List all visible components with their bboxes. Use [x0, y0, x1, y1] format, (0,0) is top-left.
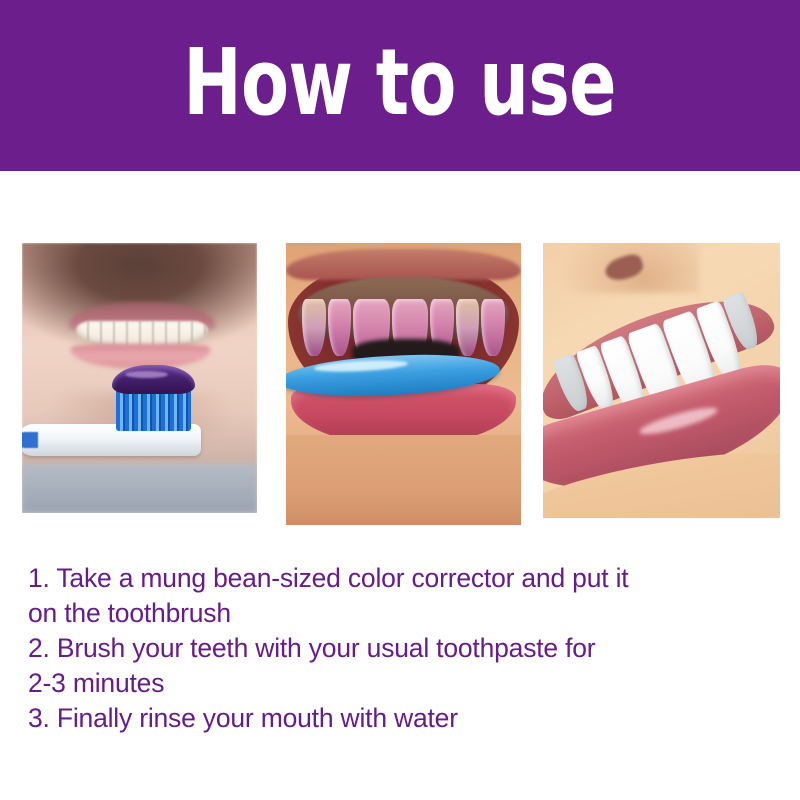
tooth — [481, 299, 504, 355]
instructions-block: 1. Take a mung bean-sized color correcto… — [28, 561, 778, 736]
chin-shape — [286, 435, 521, 525]
upper-lip-shape — [286, 249, 521, 280]
instruction-line-1-cont: on the toothbrush — [28, 596, 778, 631]
photo-2-scene — [286, 243, 521, 525]
instruction-line-3: 3. Finally rinse your mouth with water — [28, 701, 778, 736]
tooth — [328, 299, 351, 355]
shirt-shape — [22, 464, 257, 513]
photo-gallery — [0, 243, 800, 528]
toothbrush-handle-tip — [22, 432, 38, 448]
instruction-line-2: 2. Brush your teeth with your usual toot… — [28, 631, 778, 666]
photo-3-scene — [543, 243, 780, 518]
photo-white-smile-result — [543, 243, 780, 518]
photo-brushing-stained-teeth — [286, 243, 521, 525]
header-banner: How to use — [0, 0, 800, 171]
instruction-line-2-cont: 2-3 minutes — [28, 666, 778, 701]
instruction-line-1: 1. Take a mung bean-sized color correcto… — [28, 561, 778, 596]
tooth — [302, 299, 325, 355]
photo-1-scene — [22, 243, 257, 513]
photo-toothpaste-on-brush — [22, 243, 257, 513]
page-title: How to use — [184, 42, 617, 125]
